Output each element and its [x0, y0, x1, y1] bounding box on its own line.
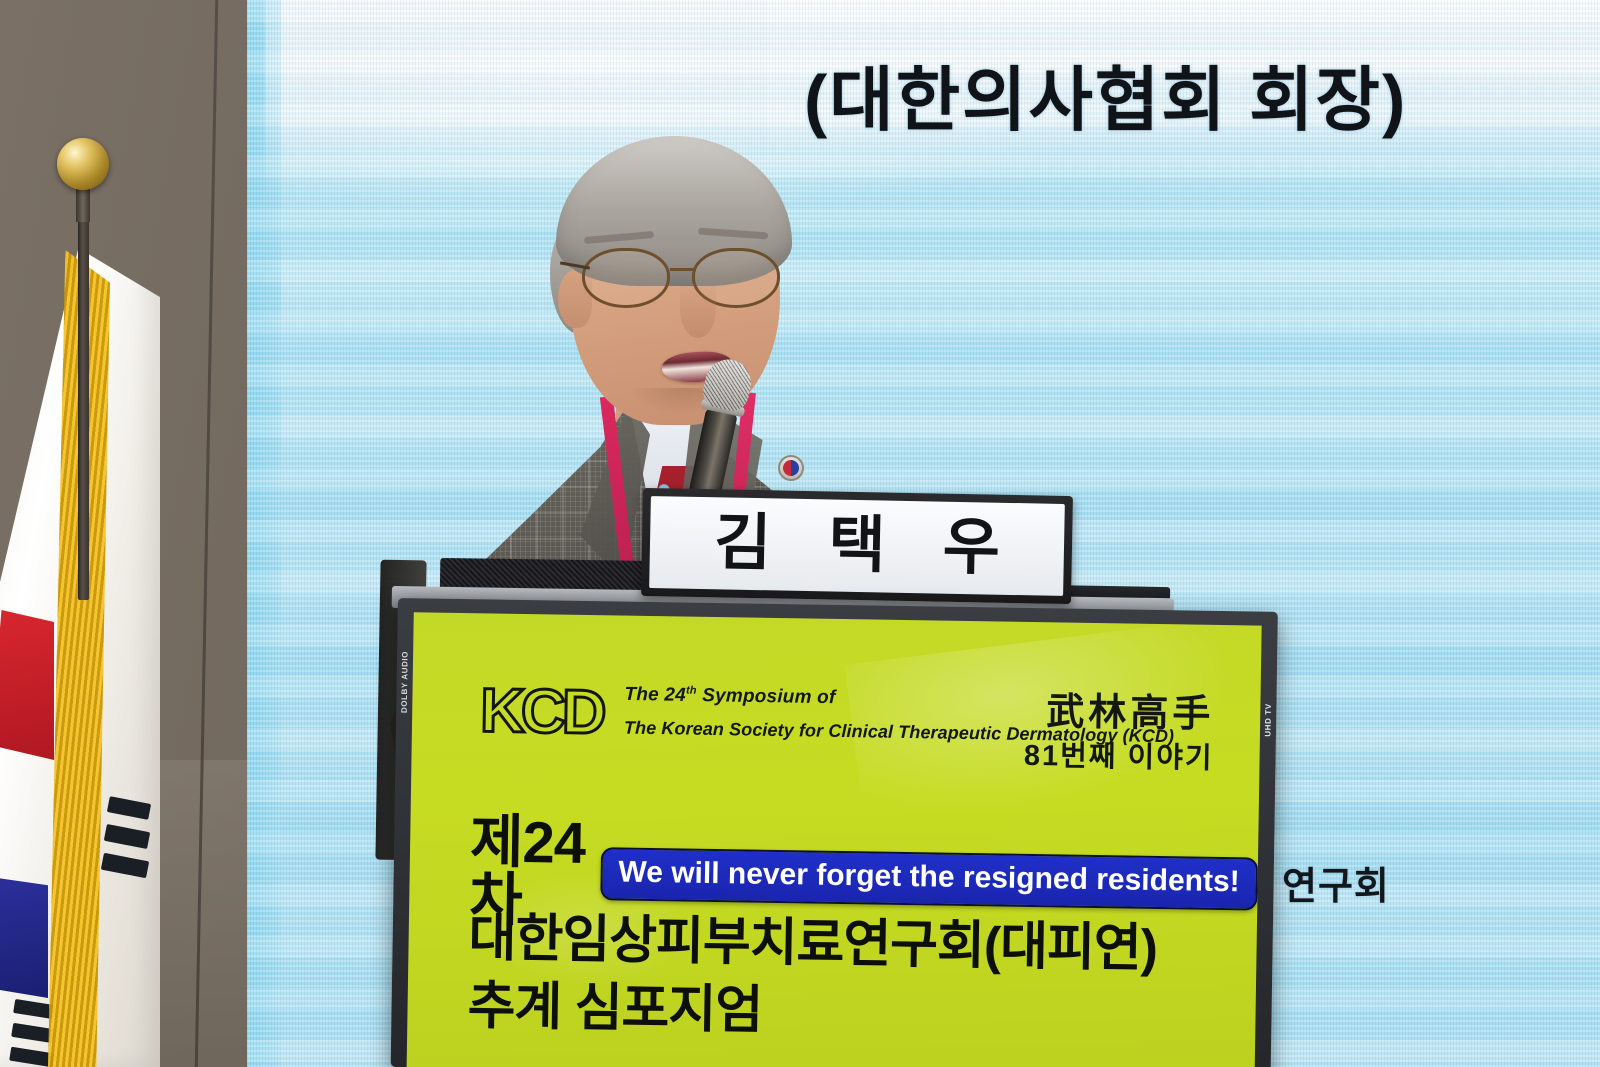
- eyeglass-lens-left: [582, 248, 670, 308]
- taegeuk-lapel-pin-icon: [778, 455, 804, 481]
- photo-stage: (대한의사협회 회장) 연구회: [0, 0, 1600, 1067]
- flag-pole: [78, 180, 89, 600]
- podium-tv-display[interactable]: DOLBY AUDIO UHD TV KCD The 24th Symposiu…: [391, 598, 1278, 1067]
- banner-korean-event-line: 추계 심포지엄: [467, 963, 763, 1043]
- tv-screen-surface: KCD The 24th Symposium of The Korean Soc…: [407, 612, 1262, 1067]
- symposium-prefix: The 24: [624, 684, 686, 706]
- flag-taeguk-red: [0, 610, 54, 760]
- eyeglass-bridge: [670, 268, 696, 271]
- banner-cjk-title: 武林高手: [1046, 680, 1215, 738]
- speaker-name-text: 김 택 우: [694, 512, 1021, 580]
- kcd-logo: KCD: [480, 675, 603, 748]
- banner-cjk-subtitle: 81번째 이야기: [1024, 732, 1214, 777]
- flag-taeguk-blue: [0, 878, 48, 998]
- flag-finial-ball-icon: [57, 138, 109, 190]
- flag-finial-neck: [76, 186, 90, 222]
- nameplate-face: 김 택 우: [649, 496, 1065, 596]
- screen-title-text: (대한의사협회 회장): [804, 44, 1407, 145]
- symposium-suffix: Symposium of: [697, 685, 836, 708]
- speaker-nameplate: 김 택 우: [641, 488, 1073, 604]
- screen-right-fragment-text: 연구회: [1282, 855, 1390, 910]
- dolby-audio-badge: DOLBY AUDIO: [398, 626, 412, 738]
- symposium-ordinal-suffix: th: [686, 685, 697, 697]
- uhd-tv-badge: UHD TV: [1262, 684, 1275, 756]
- speaker-nose: [680, 280, 716, 338]
